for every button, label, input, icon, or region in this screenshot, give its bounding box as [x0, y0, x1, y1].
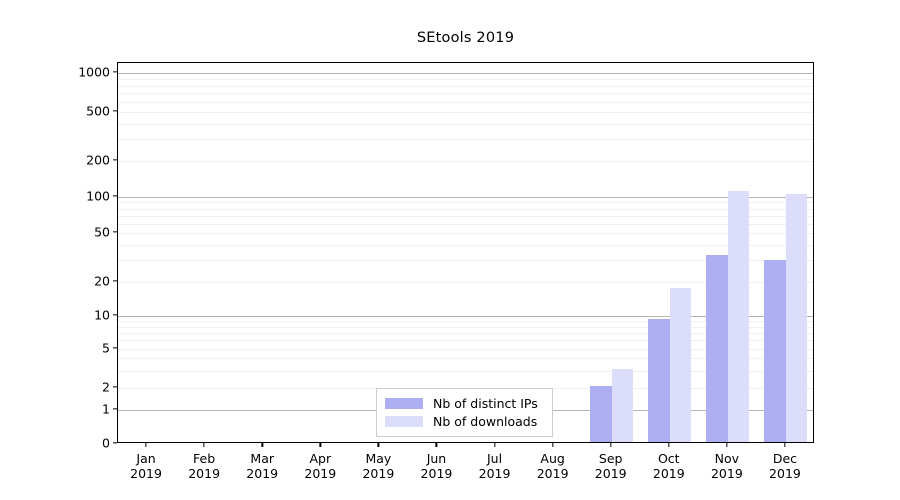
x-axis-tick-label-year: 2019 [711, 466, 743, 481]
x-axis-tick-label-month: Apr [304, 451, 336, 466]
x-axis-tick-label-year: 2019 [595, 466, 627, 481]
gridline [118, 233, 813, 234]
x-axis-tick-label-month: Jul [479, 451, 511, 466]
x-axis-tick-mark [494, 443, 495, 447]
gridline [118, 124, 813, 125]
y-axis-tick-mark [113, 408, 117, 409]
x-axis-tick-label-year: 2019 [769, 466, 801, 481]
x-axis-tick-label: Sep2019 [595, 451, 627, 481]
bar-downloads [670, 288, 691, 442]
y-axis-tick-label: 500 [86, 104, 110, 119]
y-axis-tick-mark [113, 347, 117, 348]
y-axis-tick-label: 0 [102, 436, 110, 451]
x-axis-tick-label: Jan2019 [130, 451, 162, 481]
x-axis-tick-mark [378, 443, 379, 447]
x-axis-tick-mark [552, 443, 553, 447]
x-axis-tick-mark [784, 443, 785, 447]
x-axis-tick-mark [145, 443, 146, 447]
x-axis-tick-label-year: 2019 [653, 466, 685, 481]
gridline [118, 139, 813, 140]
x-axis-tick-label-month: May [362, 451, 394, 466]
gridline [118, 79, 813, 80]
x-axis-tick-label-month: Sep [595, 451, 627, 466]
legend-item-label: Nb of downloads [433, 414, 537, 429]
y-axis-tick-mark [113, 314, 117, 315]
legend-swatch-icon [385, 416, 423, 427]
x-axis-tick-label: Oct2019 [653, 451, 685, 481]
x-axis-tick-label-year: 2019 [479, 466, 511, 481]
x-axis-tick-label-month: Nov [711, 451, 743, 466]
bar-distinct-ips [706, 255, 727, 442]
x-axis-tick-label: Nov2019 [711, 451, 743, 481]
y-axis-tick-label: 20 [94, 274, 110, 289]
legend-item[interactable]: Nb of distinct IPs [385, 394, 544, 412]
x-axis-tick-label-year: 2019 [362, 466, 394, 481]
bar-distinct-ips [764, 260, 785, 442]
bar-distinct-ips [648, 319, 669, 442]
y-axis-tick-mark [113, 386, 117, 387]
y-axis-tick-mark [113, 280, 117, 281]
x-axis-tick-label: Jul2019 [479, 451, 511, 481]
gridline [118, 161, 813, 162]
x-axis-tick-label: Aug2019 [537, 451, 569, 481]
y-axis-tick-label: 200 [86, 153, 110, 168]
bar-distinct-ips [590, 386, 611, 442]
gridline [118, 93, 813, 94]
x-axis-tick-label-month: Feb [188, 451, 220, 466]
y-axis-tick-label: 1 [102, 402, 110, 417]
y-axis-tick-label: 50 [94, 225, 110, 240]
legend-item[interactable]: Nb of downloads [385, 412, 544, 430]
gridline [118, 209, 813, 210]
legend-swatch-icon [385, 398, 423, 409]
x-axis-tick-mark [203, 443, 204, 447]
gridline [118, 245, 813, 246]
plot-area [117, 62, 814, 443]
legend-item-label: Nb of distinct IPs [433, 396, 538, 411]
y-axis-tick-mark [113, 231, 117, 232]
x-axis-tick-mark [668, 443, 669, 447]
chart-title: SEtools 2019 [117, 30, 814, 46]
x-axis-tick-mark [436, 443, 437, 447]
y-axis-tick-label: 10 [94, 308, 110, 323]
gridline [118, 112, 813, 113]
chart-figure: SEtools 2019 01251020501002005001000 Jan… [0, 0, 900, 500]
x-axis-tick-label-month: Jun [421, 451, 453, 466]
y-axis-tick-labels: 01251020501002005001000 [58, 0, 110, 500]
bar-downloads [612, 369, 633, 442]
y-axis-tick-mark [113, 195, 117, 196]
x-axis-tick-mark [726, 443, 727, 447]
x-axis-tick-label-month: Jan [130, 451, 162, 466]
x-axis-tick-label: Feb2019 [188, 451, 220, 481]
y-axis-tick-label: 1000 [78, 65, 110, 80]
chart-legend[interactable]: Nb of distinct IPsNb of downloads [376, 388, 553, 437]
x-axis-tick-label-year: 2019 [421, 466, 453, 481]
x-axis-tick-label-month: Oct [653, 451, 685, 466]
x-axis-tick-label: Dec2019 [769, 451, 801, 481]
x-axis-tick-label: May2019 [362, 451, 394, 481]
x-axis-tick-mark [320, 443, 321, 447]
y-axis-tick-label: 5 [102, 341, 110, 356]
gridline [118, 73, 813, 74]
x-axis-tick-mark [262, 443, 263, 447]
x-axis-tick-label-year: 2019 [130, 466, 162, 481]
x-axis-tick-label-year: 2019 [537, 466, 569, 481]
bar-downloads [786, 194, 807, 442]
x-axis-tick-label-month: Dec [769, 451, 801, 466]
x-axis-tick-label-year: 2019 [304, 466, 336, 481]
y-axis-tick-mark [113, 159, 117, 160]
gridline [118, 86, 813, 87]
gridline [118, 197, 813, 198]
gridline [118, 224, 813, 225]
y-axis-tick-label: 2 [102, 380, 110, 395]
x-axis-tick-label-year: 2019 [246, 466, 278, 481]
x-axis-tick-mark [610, 443, 611, 447]
gridline [118, 202, 813, 203]
gridline [118, 216, 813, 217]
x-axis-tick-label-month: Mar [246, 451, 278, 466]
y-axis-tick-mark [113, 110, 117, 111]
y-axis-tick-label: 100 [86, 189, 110, 204]
y-axis-tick-mark [113, 442, 117, 443]
x-axis-tick-label: Jun2019 [421, 451, 453, 481]
y-axis-tick-mark [113, 71, 117, 72]
x-axis-tick-label-year: 2019 [188, 466, 220, 481]
x-axis-tick-label: Mar2019 [246, 451, 278, 481]
bar-downloads [728, 191, 749, 442]
x-axis-tick-label-month: Aug [537, 451, 569, 466]
gridline [118, 102, 813, 103]
x-axis-tick-label: Apr2019 [304, 451, 336, 481]
